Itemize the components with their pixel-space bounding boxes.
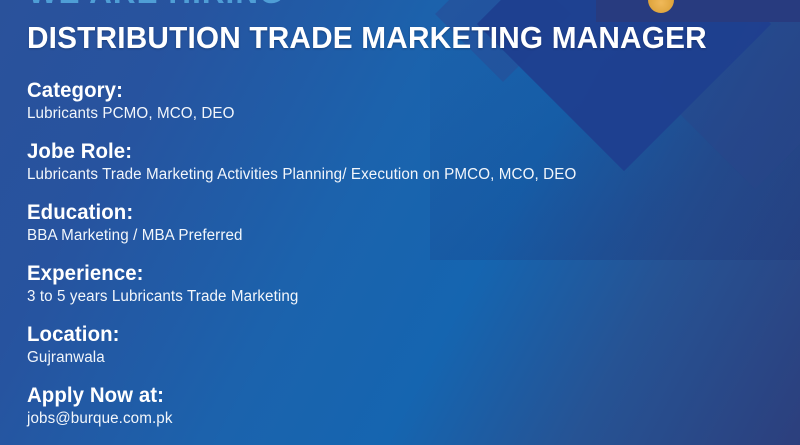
field-label: Apply Now at: [27,383,757,408]
page-title: DISTRIBUTION TRADE MARKETING MANAGER [27,21,707,55]
field-value: BBA Marketing / MBA Preferred [27,225,765,246]
decorative-panel-top-right-band [596,0,800,22]
field-apply-now: Apply Now at: jobs@burque.com.pk [27,383,780,429]
field-label: Experience: [27,261,757,286]
hiring-kicker-headline: WE ARE HIRING [28,0,284,12]
field-location: Location: Gujranwala [27,322,780,368]
decorative-panel-top-right [596,0,800,22]
field-label: Education: [27,200,757,225]
apply-email-address[interactable]: jobs@burque.com.pk [27,408,765,429]
field-value: Lubricants Trade Marketing Activities Pl… [27,164,765,185]
field-value: Gujranwala [27,347,765,368]
field-label: Category: [27,78,757,103]
job-details-list: Category: Lubricants PCMO, MCO, DEO Jobe… [27,78,780,444]
field-education: Education: BBA Marketing / MBA Preferred [27,200,780,246]
field-label: Location: [27,322,757,347]
field-experience: Experience: 3 to 5 years Lubricants Trad… [27,261,780,307]
field-category: Category: Lubricants PCMO, MCO, DEO [27,78,780,124]
field-value: 3 to 5 years Lubricants Trade Marketing [27,286,765,307]
company-logo-icon [648,0,674,13]
field-value: Lubricants PCMO, MCO, DEO [27,103,765,124]
job-posting-banner: WE ARE HIRING DISTRIBUTION TRADE MARKETI… [0,0,800,445]
field-job-role: Jobe Role: Lubricants Trade Marketing Ac… [27,139,780,185]
field-label: Jobe Role: [27,139,757,164]
